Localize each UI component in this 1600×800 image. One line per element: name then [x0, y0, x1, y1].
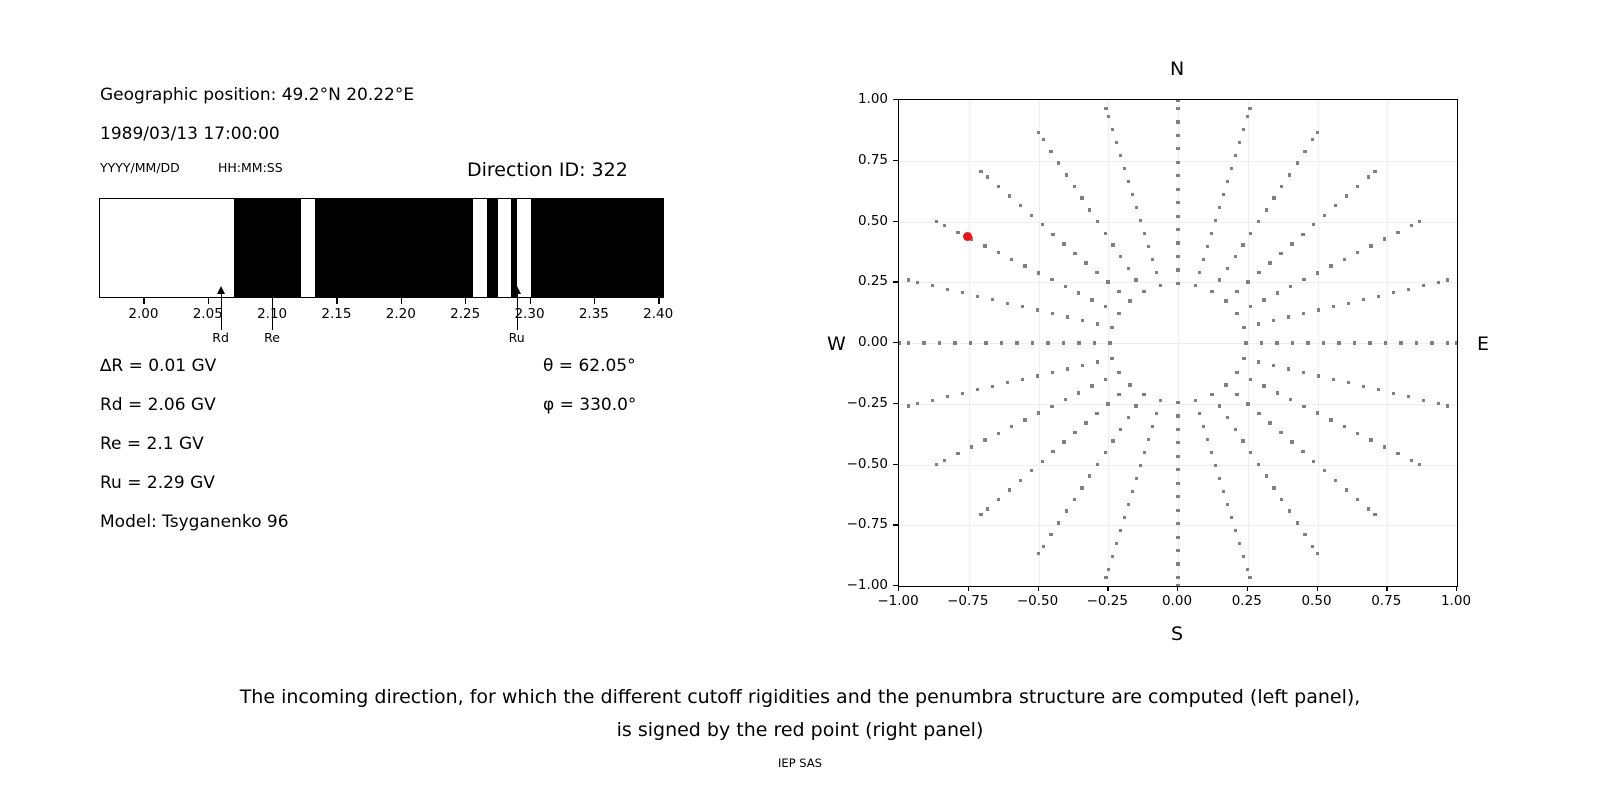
- sky-direction-point: [1316, 411, 1319, 414]
- sky-direction-point: [986, 175, 989, 178]
- sky-direction-point: [1176, 428, 1179, 431]
- sky-direction-point: [1276, 391, 1279, 394]
- sky-direction-point: [1268, 421, 1271, 424]
- x-axis-tick: [1177, 586, 1178, 591]
- sky-direction-point: [1316, 552, 1319, 555]
- sky-direction-point: [1090, 384, 1093, 387]
- sky-direction-point: [1230, 516, 1233, 519]
- sky-direction-point: [1073, 498, 1076, 501]
- sky-direction-point: [1095, 271, 1098, 274]
- sky-direction-point: [1139, 219, 1142, 222]
- sky-direction-point: [1373, 170, 1376, 173]
- x-axis-tick-label: 0.75: [1371, 593, 1401, 609]
- sky-direction-point: [907, 278, 910, 281]
- sky-direction-point: [1176, 495, 1179, 498]
- sky-direction-point: [1316, 271, 1319, 274]
- sky-direction-point: [1062, 242, 1065, 245]
- sky-direction-point: [1329, 264, 1332, 267]
- sky-direction-point: [976, 388, 979, 391]
- y-axis-tick-label: 1.00: [836, 91, 888, 107]
- sky-direction-point: [1051, 450, 1054, 453]
- sky-direction-point: [1279, 252, 1282, 255]
- compass-east-label: E: [1477, 333, 1489, 355]
- sky-direction-point: [1176, 147, 1179, 150]
- sky-direction-point: [1142, 290, 1145, 293]
- sky-direction-point: [1030, 214, 1033, 217]
- sky-direction-point: [1123, 167, 1126, 170]
- sky-direction-point: [1362, 298, 1365, 301]
- sky-direction-point: [1096, 360, 1099, 363]
- sky-direction-point: [997, 498, 1000, 501]
- sky-direction-point: [1218, 404, 1221, 407]
- caption-line-1: The incoming direction, for which the di…: [0, 686, 1600, 708]
- sky-direction-point: [1367, 507, 1370, 510]
- x-axis-tick-label: 0.25: [1232, 593, 1262, 609]
- sky-direction-point: [1000, 341, 1003, 344]
- sky-direction-point: [1230, 167, 1233, 170]
- sky-direction-point: [1353, 341, 1356, 344]
- sky-direction-point: [1008, 488, 1011, 491]
- sky-direction-point: [1036, 308, 1039, 311]
- sky-direction-point: [1037, 552, 1040, 555]
- sky-direction-point: [1088, 474, 1091, 477]
- sky-direction-point: [1104, 107, 1107, 110]
- sky-direction-point: [1051, 371, 1054, 374]
- sky-direction-point: [1312, 460, 1315, 463]
- sky-direction-point: [1242, 326, 1245, 329]
- sky-direction-point: [1049, 150, 1052, 153]
- sky-direction-point: [1272, 319, 1275, 322]
- sky-direction-point: [1356, 185, 1359, 188]
- sky-direction-point: [1115, 542, 1118, 545]
- sky-direction-point: [1104, 232, 1107, 235]
- sky-direction-point: [1226, 180, 1229, 183]
- sky-direction-point: [1222, 193, 1225, 196]
- sky-direction-point: [1046, 341, 1049, 344]
- sky-direction-point: [1234, 255, 1237, 258]
- sky-direction-point: [1410, 224, 1413, 227]
- gridline-horizontal: [899, 465, 1457, 466]
- sky-direction-point: [1073, 185, 1076, 188]
- sky-direction-point: [1023, 264, 1026, 267]
- sky-direction-point: [1369, 244, 1372, 247]
- sky-direction-point: [1210, 393, 1213, 396]
- sky-direction-point: [1296, 521, 1299, 524]
- sky-direction-point: [969, 341, 972, 344]
- sky-direction-point: [1127, 180, 1130, 183]
- sky-direction-point: [1218, 278, 1221, 281]
- sky-direction-point: [1176, 255, 1179, 258]
- sky-direction-point: [1008, 194, 1011, 197]
- sky-direction-point: [1257, 220, 1260, 223]
- y-axis-tick: [893, 221, 898, 222]
- sky-direction-point: [1142, 393, 1145, 396]
- sky-direction-point: [1367, 175, 1370, 178]
- sky-direction-point: [1106, 280, 1109, 283]
- sky-direction-point: [1446, 341, 1449, 344]
- gridline-horizontal: [899, 343, 1457, 344]
- sky-direction-point: [1368, 341, 1371, 344]
- sky-direction-point: [1337, 341, 1340, 344]
- sky-direction-point: [1065, 173, 1068, 176]
- sky-direction-point: [1396, 231, 1399, 234]
- sky-direction-point: [1303, 533, 1306, 536]
- sky-direction-point: [1119, 154, 1122, 157]
- sky-direction-point: [1287, 367, 1290, 370]
- compass-south-label: S: [1171, 623, 1183, 645]
- sky-direction-point: [1257, 412, 1260, 415]
- sky-direction-point: [1260, 341, 1263, 344]
- sky-direction-point: [922, 341, 925, 344]
- sky-direction-point: [1246, 402, 1249, 405]
- sky-direction-point: [1272, 196, 1275, 199]
- sky-direction-point: [1176, 414, 1179, 417]
- sky-direction-point: [1206, 438, 1209, 441]
- sky-direction-point: [1226, 267, 1229, 270]
- sky-direction-point: [1066, 367, 1069, 370]
- sky-direction-point: [1302, 312, 1305, 315]
- sky-direction-point: [1066, 315, 1069, 318]
- sky-direction-point: [1049, 533, 1052, 536]
- sky-direction-point: [1446, 278, 1449, 281]
- sky-direction-point: [1176, 268, 1179, 271]
- sky-direction-point: [1128, 383, 1131, 386]
- sky-direction-point: [1246, 280, 1249, 283]
- sky-direction-point: [1210, 232, 1213, 235]
- sky-direction-point: [907, 341, 910, 344]
- y-axis-tick-label: −1.00: [836, 577, 888, 593]
- sky-direction-point: [1111, 555, 1114, 558]
- sky-direction-point: [1224, 299, 1227, 302]
- sky-direction-point: [1021, 305, 1024, 308]
- sky-direction-point: [1415, 341, 1418, 344]
- gridline-horizontal: [899, 222, 1457, 223]
- sky-direction-point: [1202, 258, 1205, 261]
- x-axis-tick-label: 1.00: [1441, 593, 1471, 609]
- sky-direction-point: [1455, 341, 1458, 344]
- sky-direction-point: [1064, 398, 1067, 401]
- sky-direction-point: [1176, 482, 1179, 485]
- sky-direction-point: [1377, 295, 1380, 298]
- sky-direction-point: [1316, 131, 1319, 134]
- sky-direction-point: [1356, 251, 1359, 254]
- sky-direction-point: [1242, 128, 1245, 131]
- y-axis-tick: [893, 342, 898, 343]
- y-axis-tick: [893, 99, 898, 100]
- sky-direction-point: [1222, 490, 1225, 493]
- sky-direction-point: [1198, 271, 1201, 274]
- sky-direction-point: [1257, 271, 1260, 274]
- sky-direction-point: [984, 341, 987, 344]
- y-axis-tick-label: 0.25: [836, 273, 888, 289]
- sky-direction-point: [1042, 138, 1045, 141]
- sky-direction-point: [1021, 378, 1024, 381]
- sky-direction-point: [1134, 404, 1137, 407]
- x-axis-tick: [968, 586, 969, 591]
- sky-direction-point: [1036, 374, 1039, 377]
- sky-direction-point: [953, 341, 956, 344]
- sky-direction-point: [1155, 271, 1158, 274]
- sky-direction-point: [1234, 529, 1237, 532]
- sky-direction-point: [1057, 161, 1060, 164]
- sky-direction-point: [943, 459, 946, 462]
- sky-direction-point: [1246, 115, 1249, 118]
- sky-direction-point: [1176, 174, 1179, 177]
- sky-direction-point: [1057, 521, 1060, 524]
- sky-direction-point: [986, 507, 989, 510]
- sky-direction-point: [1373, 513, 1376, 516]
- sky-direction-point: [1265, 208, 1268, 211]
- sky-direction-point: [991, 385, 994, 388]
- y-axis-tick-label: −0.50: [836, 456, 888, 472]
- sky-direction-point: [1272, 486, 1275, 489]
- sky-direction-point: [1176, 134, 1179, 137]
- sky-direction-point: [1031, 341, 1034, 344]
- sky-direction-point: [1096, 463, 1099, 466]
- sky-direction-point: [1257, 322, 1260, 325]
- sky-direction-point: [1446, 404, 1449, 407]
- sky-direction-point: [1111, 128, 1114, 131]
- sky-direction-point: [938, 341, 941, 344]
- sky-direction-point: [1077, 391, 1080, 394]
- sky-direction-point: [979, 170, 982, 173]
- sky-direction-point: [1311, 138, 1314, 141]
- x-axis-tick-label: 0.00: [1162, 593, 1192, 609]
- sky-direction-point: [1290, 440, 1293, 443]
- sky-direction-point: [1244, 341, 1247, 344]
- sky-direction-point: [1176, 576, 1179, 579]
- sky-direction-point: [1407, 288, 1410, 291]
- sky-direction-point: [1117, 290, 1120, 293]
- sky-direction-point: [1422, 399, 1425, 402]
- sky-direction-point: [1051, 233, 1054, 236]
- sky-direction-point: [1062, 341, 1065, 344]
- sky-direction-point: [1104, 576, 1107, 579]
- y-axis-tick: [893, 464, 898, 465]
- sky-direction-point: [1275, 341, 1278, 344]
- sky-direction-point: [1050, 405, 1053, 408]
- sky-direction-point: [1110, 326, 1113, 329]
- sky-direction-point: [979, 513, 982, 516]
- sky-direction-point: [1272, 364, 1275, 367]
- sky-direction-point: [1301, 233, 1304, 236]
- sky-direction-point: [1159, 284, 1162, 287]
- sky-direction-point: [1093, 341, 1096, 344]
- sky-direction-point: [1042, 545, 1045, 548]
- sky-direction-point: [1343, 258, 1346, 261]
- sky-direction-point: [997, 251, 1000, 254]
- sky-direction-point: [1399, 341, 1402, 344]
- sky-direction-point: [935, 463, 938, 466]
- sky-direction-point: [1117, 371, 1120, 374]
- x-axis-tick: [1247, 586, 1248, 591]
- sky-direction-point: [1110, 357, 1113, 360]
- sky-direction-point: [1030, 469, 1033, 472]
- x-axis-tick-label: −0.75: [947, 593, 988, 609]
- sky-direction-point: [916, 281, 919, 284]
- compass-north-label: N: [1170, 58, 1184, 80]
- sky-direction-point: [1128, 299, 1131, 302]
- sky-direction-point: [1249, 378, 1252, 381]
- sky-direction-point: [1302, 405, 1305, 408]
- sky-direction-point: [1410, 459, 1413, 462]
- sky-direction-point: [1176, 201, 1179, 204]
- sky-direction-point: [1242, 357, 1245, 360]
- sky-direction-point: [1248, 576, 1251, 579]
- sky-direction-point: [1077, 291, 1080, 294]
- sky-direction-point: [1235, 312, 1238, 315]
- sky-direction-point: [1117, 393, 1120, 396]
- sky-direction-point: [1194, 284, 1197, 287]
- sky-direction-point: [1139, 464, 1142, 467]
- sky-direction-point: [1296, 161, 1299, 164]
- sky-direction-point: [1134, 278, 1137, 281]
- x-axis-tick: [1456, 586, 1457, 591]
- sky-direction-point: [1302, 371, 1305, 374]
- sky-direction-point: [1214, 464, 1217, 467]
- sky-direction-point: [1131, 193, 1134, 196]
- sky-direction-point: [1147, 438, 1150, 441]
- sky-direction-point: [1111, 439, 1114, 442]
- sky-direction-point: [1108, 341, 1111, 344]
- sky-direction-point: [1176, 536, 1179, 539]
- sky-direction-point: [1019, 479, 1022, 482]
- sky-direction-point: [1065, 509, 1068, 512]
- sky-direction-point: [1224, 383, 1227, 386]
- sky-direction-point: [1218, 477, 1221, 480]
- sky-direction-point: [976, 295, 979, 298]
- sky-direction-point: [1151, 258, 1154, 261]
- sky-direction-point: [1143, 451, 1146, 454]
- sky-direction-point: [1064, 285, 1067, 288]
- sky-direction-point: [1246, 568, 1249, 571]
- sky-direction-point: [1383, 445, 1386, 448]
- sky-direction-point: [1206, 245, 1209, 248]
- sky-direction-point: [1235, 371, 1238, 374]
- footer-credit: IEP SAS: [0, 756, 1600, 770]
- sky-direction-point: [1234, 154, 1237, 157]
- sky-direction-point: [1084, 421, 1087, 424]
- sky-direction-point: [1242, 555, 1245, 558]
- sky-direction-point: [935, 220, 938, 223]
- sky-direction-point: [931, 284, 934, 287]
- sky-direction-point: [946, 395, 949, 398]
- sky-direction-point: [1127, 503, 1130, 506]
- y-axis-tick: [893, 403, 898, 404]
- sky-direction-point: [961, 291, 964, 294]
- sky-direction-point: [1127, 267, 1130, 270]
- sky-direction-point: [931, 399, 934, 402]
- sky-direction-point: [1006, 302, 1009, 305]
- sky-direction-point: [1117, 312, 1120, 315]
- sky-direction-point: [1289, 285, 1292, 288]
- sky-direction-point: [1202, 425, 1205, 428]
- sky-direction-point: [1176, 468, 1179, 471]
- sky-direction-point: [1317, 374, 1320, 377]
- sky-direction-point: [1392, 291, 1395, 294]
- sky-direction-point: [1437, 402, 1440, 405]
- sky-map-plot-area: [898, 99, 1458, 587]
- sky-direction-point: [1407, 395, 1410, 398]
- sky-direction-point: [1302, 278, 1305, 281]
- sky-direction-point: [970, 445, 973, 448]
- y-axis-tick-label: 0.75: [836, 152, 888, 168]
- sky-direction-point: [1418, 463, 1421, 466]
- sky-direction-point: [1050, 278, 1053, 281]
- sky-direction-point: [946, 288, 949, 291]
- y-axis-tick-label: 0.50: [836, 213, 888, 229]
- sky-direction-point: [956, 231, 959, 234]
- sky-direction-point: [1345, 194, 1348, 197]
- y-axis-tick: [893, 160, 898, 161]
- sky-direction-point: [1210, 290, 1213, 293]
- sky-direction-point: [898, 341, 901, 344]
- x-axis-tick: [1386, 586, 1387, 591]
- sky-direction-point: [1430, 341, 1433, 344]
- sky-direction-point: [1226, 416, 1229, 419]
- sky-direction-point: [1010, 258, 1013, 261]
- sky-direction-point: [1362, 385, 1365, 388]
- sky-direction-point: [1384, 341, 1387, 344]
- x-axis-tick-label: −1.00: [877, 593, 918, 609]
- sky-direction-point: [1037, 271, 1040, 274]
- sky-direction-point: [1396, 452, 1399, 455]
- sky-direction-point: [1104, 378, 1107, 381]
- sky-direction-point: [1081, 364, 1084, 367]
- sky-direction-point: [1176, 107, 1179, 110]
- sky-direction-point: [1041, 223, 1044, 226]
- sky-direction-point: [1131, 490, 1134, 493]
- sky-direction-point: [1317, 308, 1320, 311]
- sky-direction-point: [1176, 282, 1179, 285]
- x-axis-tick-label: −0.50: [1017, 593, 1058, 609]
- sky-direction-point: [961, 392, 964, 395]
- sky-direction-point: [1322, 341, 1325, 344]
- sky-direction-point: [1290, 242, 1293, 245]
- x-axis-tick-label: −0.25: [1087, 593, 1128, 609]
- sky-direction-point: [1073, 431, 1076, 434]
- sky-direction-point: [1176, 509, 1179, 512]
- sky-direction-point: [1104, 305, 1107, 308]
- sky-direction-point: [1084, 261, 1087, 264]
- sky-direction-point: [1081, 319, 1084, 322]
- sky-direction-point: [1127, 416, 1130, 419]
- sky-direction-point: [956, 452, 959, 455]
- sky-direction-point: [1265, 474, 1268, 477]
- sky-direction-point: [1234, 428, 1237, 431]
- sky-direction-point: [1288, 173, 1291, 176]
- sky-direction-point: [1073, 252, 1076, 255]
- sky-direction-point: [1051, 312, 1054, 315]
- sky-direction-point: [1347, 302, 1350, 305]
- sky-direction-point: [1418, 220, 1421, 223]
- sky-direction-point: [1279, 431, 1282, 434]
- sky-direction-point: [1238, 141, 1241, 144]
- sky-direction-point: [1096, 322, 1099, 325]
- sky-direction-point: [1010, 425, 1013, 428]
- y-axis-tick-label: −0.25: [836, 395, 888, 411]
- sky-direction-point: [1006, 381, 1009, 384]
- sky-direction-point: [1287, 315, 1290, 318]
- sky-direction-point: [1312, 223, 1315, 226]
- sky-direction-point: [1115, 141, 1118, 144]
- sky-direction-point: [1080, 196, 1083, 199]
- sky-direction-point: [983, 244, 986, 247]
- sky-direction-point: [1214, 219, 1217, 222]
- y-axis-tick-label: −0.75: [836, 516, 888, 532]
- sky-direction-point: [1345, 488, 1348, 491]
- sky-direction-point: [1249, 305, 1252, 308]
